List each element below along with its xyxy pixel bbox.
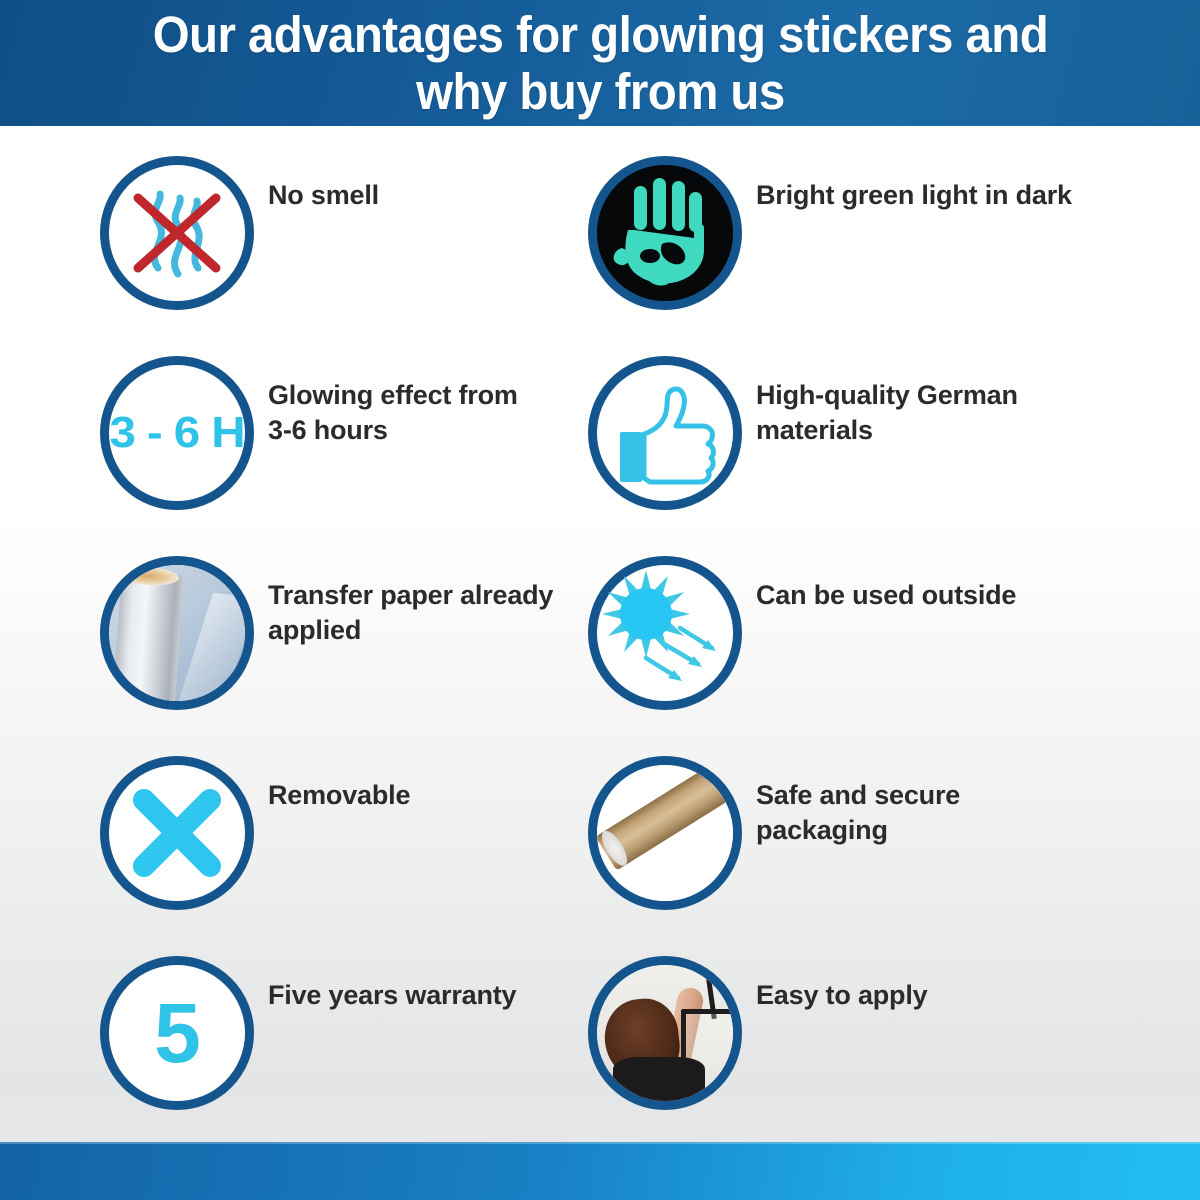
duration-glyph-text: 3 - 6 H: [94, 356, 260, 510]
person-applying-sticker-icon: [588, 956, 742, 1110]
feature-german-materials: High-quality German materials: [588, 356, 1078, 556]
mailing-tube-photo: [597, 765, 733, 901]
no-smell-icon-art: [100, 156, 254, 310]
feature-label: Glowing effect from 3-6 hours: [268, 378, 518, 448]
feature-removable: Removable: [100, 756, 590, 956]
sun-rays-icon: [588, 556, 742, 710]
feature-label: Transfer paper already applied: [268, 578, 553, 648]
feature-label: Bright green light in dark: [756, 178, 1072, 213]
footer-bar: [0, 1142, 1200, 1200]
thumbs-up-icon-art: [588, 356, 742, 510]
feature-easy-to-apply: Easy to apply: [588, 956, 1078, 1156]
mailing-tube-icon: [588, 756, 742, 910]
feature-glowing-effect-duration: 3 - 6 H Glowing effect from 3-6 hours: [100, 356, 590, 556]
feature-bright-green-light: Bright green light in dark: [588, 156, 1078, 356]
feature-no-smell: No smell: [100, 156, 590, 356]
cross-x-icon-art: [100, 756, 254, 910]
header-banner: Our advantages for glowing stickers and …: [0, 0, 1200, 126]
feature-label: No smell: [268, 178, 379, 213]
features-grid: No smell: [0, 126, 1200, 1140]
warranty-5-icon: 5: [100, 956, 254, 1110]
sun-rays-icon-art: [588, 556, 742, 710]
feature-transfer-paper: Transfer paper already applied: [100, 556, 590, 756]
glowing-handprint-icon: [588, 156, 742, 310]
feature-five-years-warranty: 5 Five years warranty: [100, 956, 590, 1156]
transfer-paper-roll-icon: [100, 556, 254, 710]
feature-label: High-quality German materials: [756, 378, 1076, 448]
feature-label: Safe and secure packaging: [756, 778, 1076, 848]
person-applying-sticker-photo: [597, 965, 733, 1101]
duration-3-6h-icon: 3 - 6 H: [100, 356, 254, 510]
feature-label: Removable: [268, 778, 410, 813]
infographic-page: Our advantages for glowing stickers and …: [0, 0, 1200, 1200]
feature-safe-packaging: Safe and secure packaging: [588, 756, 1078, 956]
feature-label: Can be used outside: [756, 578, 1016, 613]
page-title: Our advantages for glowing stickers and …: [137, 6, 1062, 120]
transfer-paper-roll-photo: [109, 565, 245, 701]
no-smell-icon: [100, 156, 254, 310]
thumbs-up-icon: [588, 356, 742, 510]
feature-label: Five years warranty: [268, 978, 516, 1013]
warranty-glyph-text: 5: [100, 956, 254, 1110]
glowing-handprint-icon-art: [588, 156, 742, 310]
feature-label: Easy to apply: [756, 978, 927, 1013]
cross-x-icon: [100, 756, 254, 910]
feature-outdoor-use: Can be used outside: [588, 556, 1078, 756]
